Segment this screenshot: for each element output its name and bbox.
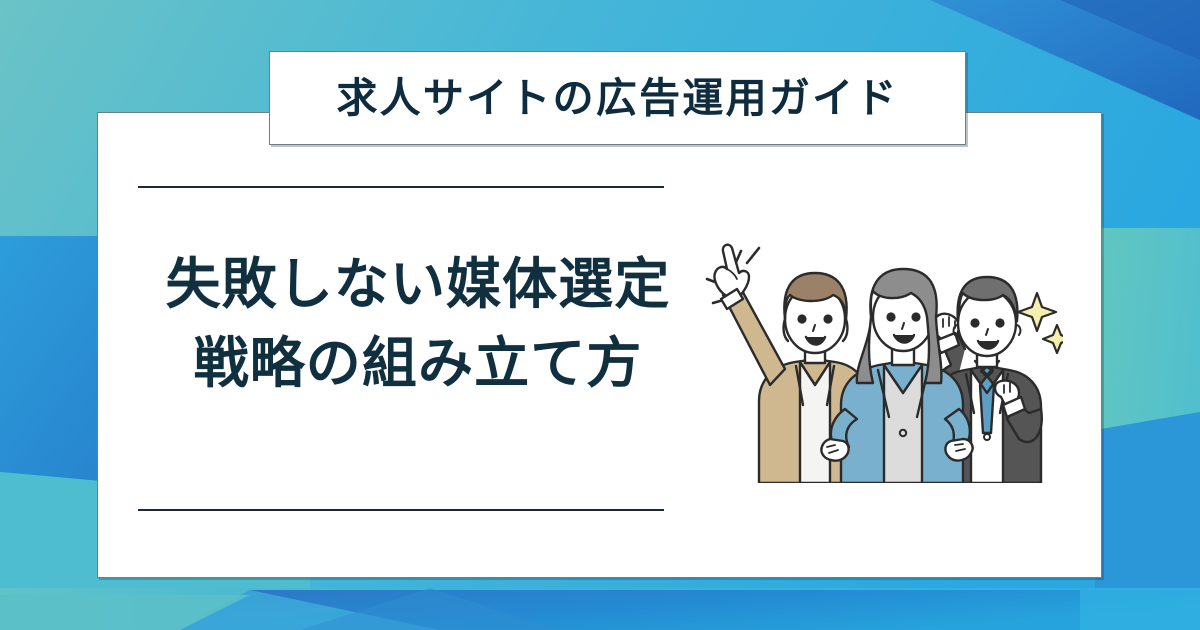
slide-canvas: 失敗しない媒体選定 戦略の組み立て方 <box>0 0 1200 630</box>
divider-bottom <box>138 509 664 511</box>
title-line-1: 失敗しない媒体選定 <box>138 253 698 316</box>
header-title-text: 求人サイトの広告運用ガイド <box>336 78 898 119</box>
divider-top <box>138 186 664 188</box>
bg-bottom-right-cyan <box>1080 588 1200 630</box>
content-card: 失敗しない媒体選定 戦略の組み立て方 <box>97 112 1102 578</box>
header-title-box: 求人サイトの広告運用ガイド <box>269 51 966 145</box>
business-people-svg <box>663 233 1063 483</box>
title-line-2: 戦略の組み立て方 <box>138 332 698 395</box>
illustration-three-business-people <box>663 233 1063 483</box>
title-block: 失敗しない媒体選定 戦略の組み立て方 <box>138 253 698 394</box>
sparkle-icon <box>1018 293 1063 353</box>
